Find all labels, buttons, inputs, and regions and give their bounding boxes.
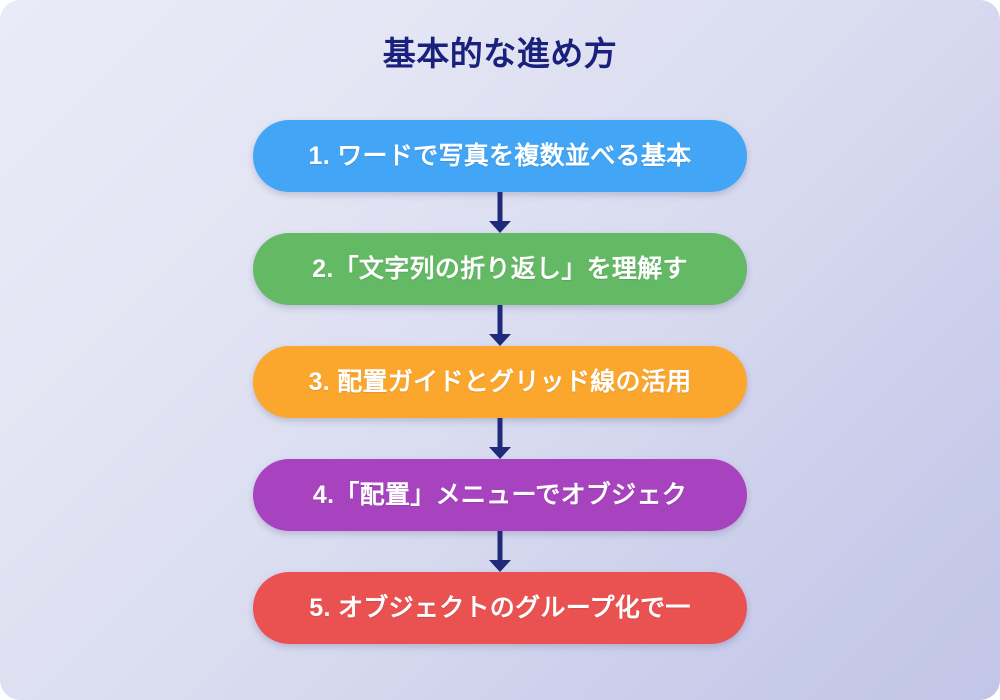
connector-4-to-5 — [253, 531, 747, 572]
step-node-1-label: 1. ワードで写真を複数並べる基本 — [295, 141, 706, 171]
step-node-5[interactable]: 5. オブジェクトのグループ化で一 — [253, 572, 747, 644]
arrow-down-icon — [488, 305, 512, 346]
connector-3-to-4 — [253, 418, 747, 459]
step-node-4-label: 4.「配置」メニューでオブジェク — [299, 480, 701, 510]
step-node-2[interactable]: 2.「文字列の折り返し」を理解す — [253, 233, 747, 305]
flow-step-1: 1. ワードで写真を複数並べる基本 — [253, 120, 747, 192]
arrow-down-icon — [488, 192, 512, 233]
connector-2-to-3 — [253, 305, 747, 346]
flow-step-5: 5. オブジェクトのグループ化で一 — [253, 572, 747, 644]
step-node-1[interactable]: 1. ワードで写真を複数並べる基本 — [253, 120, 747, 192]
flow-step-4: 4.「配置」メニューでオブジェク — [253, 459, 747, 531]
step-node-5-label: 5. オブジェクトのグループ化で一 — [295, 593, 704, 623]
arrow-down-icon — [488, 418, 512, 459]
step-node-3[interactable]: 3. 配置ガイドとグリッド線の活用 — [253, 346, 747, 418]
step-node-4[interactable]: 4.「配置」メニューでオブジェク — [253, 459, 747, 531]
step-node-2-label: 2.「文字列の折り返し」を理解す — [298, 254, 702, 284]
page-title: 基本的な進め方 — [0, 30, 1000, 78]
connector-1-to-2 — [253, 192, 747, 233]
flow-container: 1. ワードで写真を複数並べる基本 2.「文字列の折り返し」を理解す 3. — [253, 120, 747, 644]
step-node-3-label: 3. 配置ガイドとグリッド線の活用 — [295, 367, 706, 397]
flow-step-2: 2.「文字列の折り返し」を理解す — [253, 233, 747, 305]
arrow-down-icon — [488, 531, 512, 572]
flowchart-canvas: 基本的な進め方 1. ワードで写真を複数並べる基本 2.「文字列の折り返し」を理… — [0, 0, 1000, 700]
flow-step-3: 3. 配置ガイドとグリッド線の活用 — [253, 346, 747, 418]
